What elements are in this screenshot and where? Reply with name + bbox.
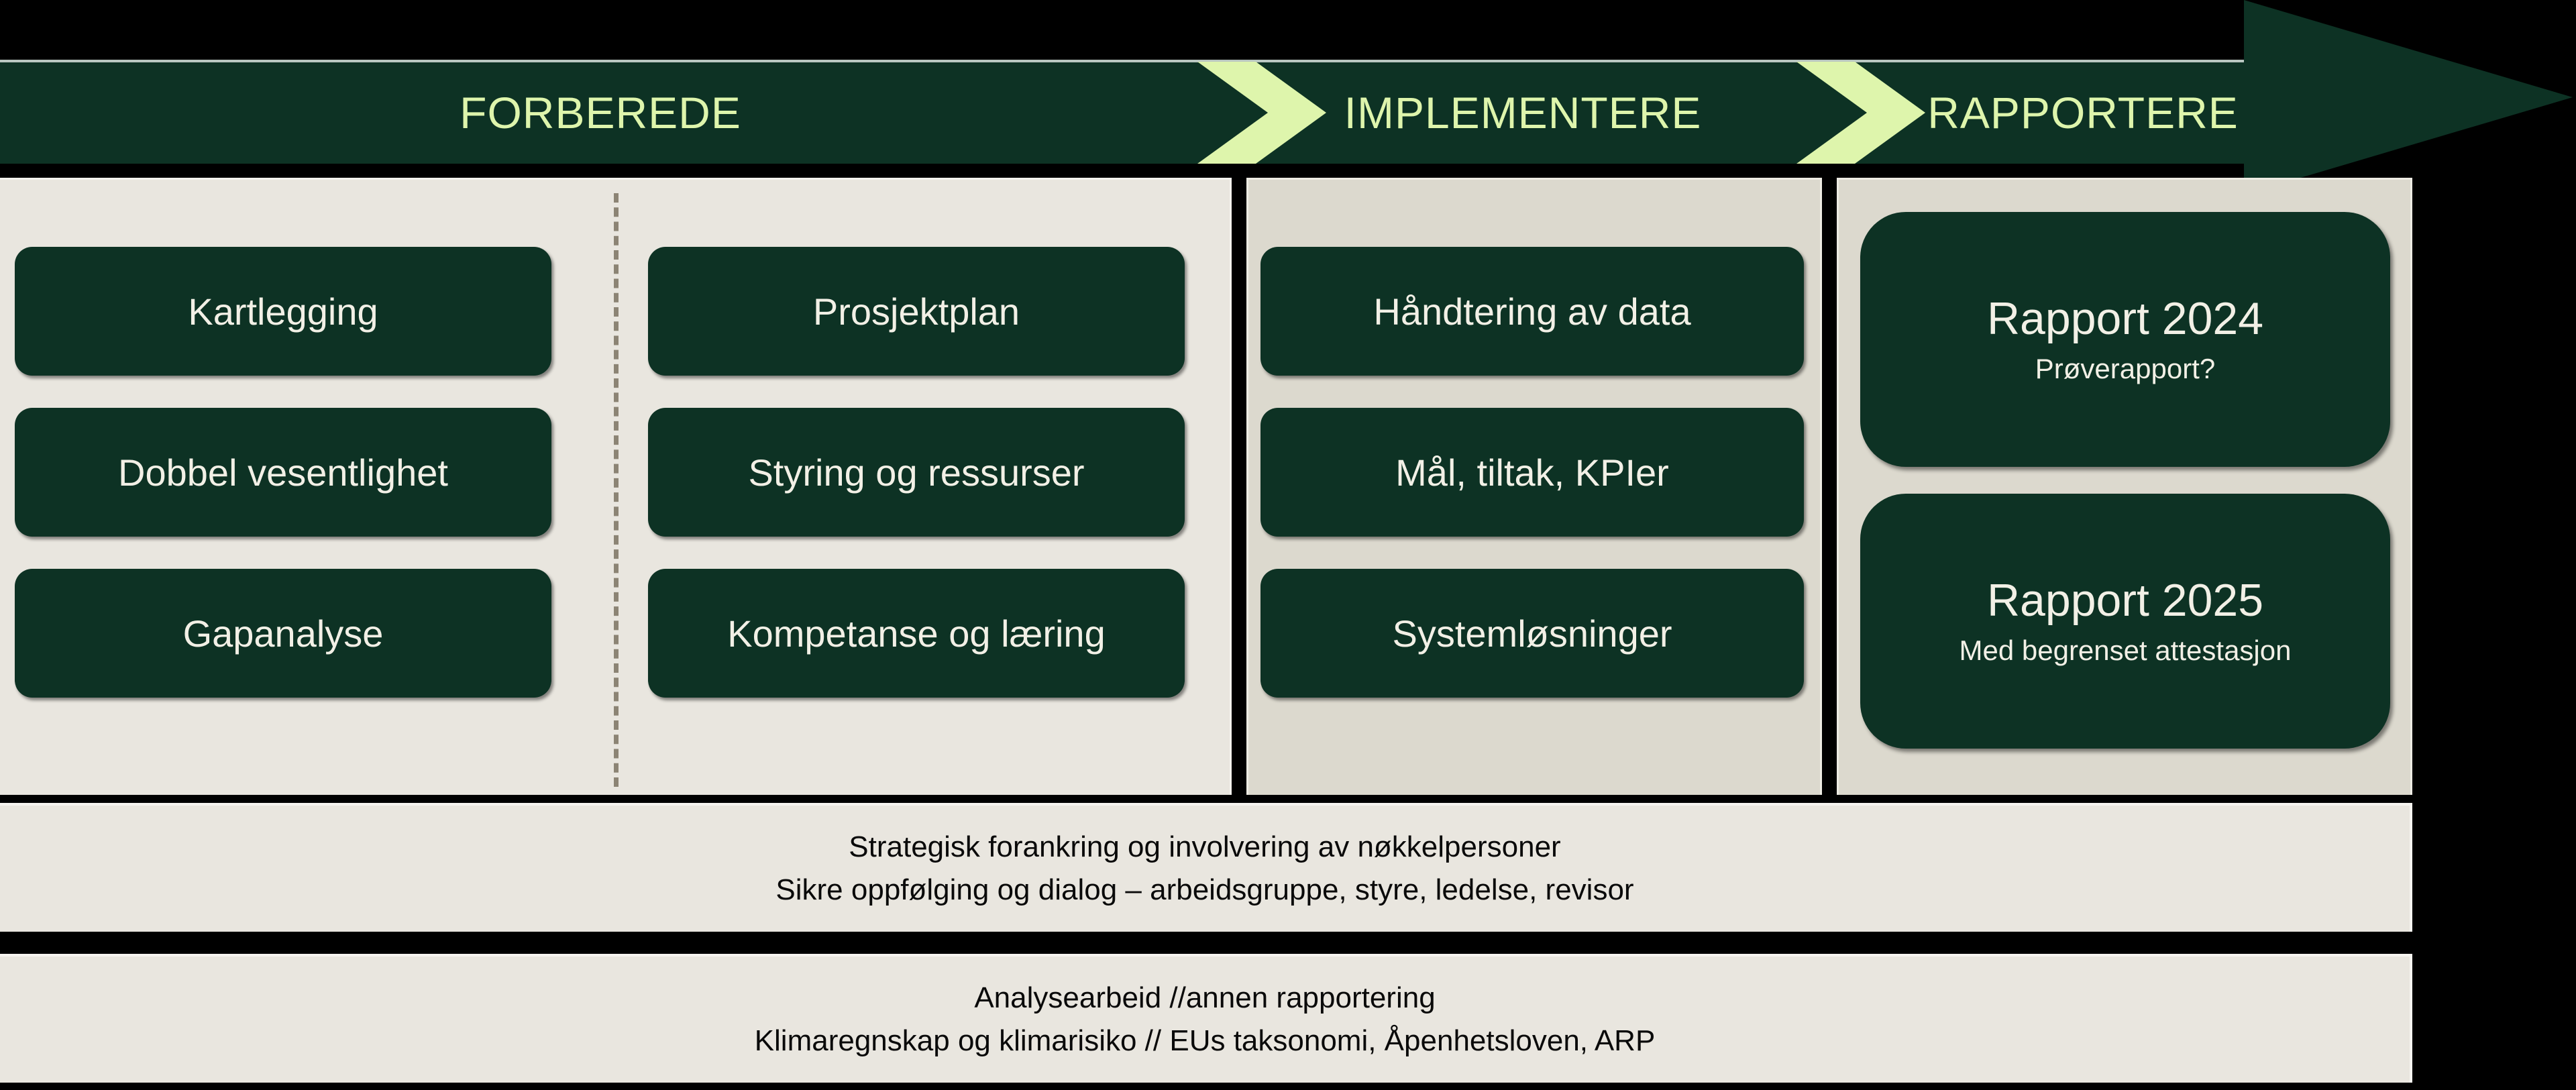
report-card-title: Rapport 2025 (1987, 578, 2263, 623)
bottom-band-forankring: Strategisk forankring og involvering av … (0, 803, 2412, 932)
phase-panel-rapportere: Rapport 2024 Prøverapport? Rapport 2025 … (1837, 178, 2412, 795)
step-card-systemlosninger[interactable]: Systemløsninger (1260, 569, 1804, 698)
process-arrow-header: FORBEREDE IMPLEMENTERE RAPPORTERE (0, 62, 2576, 164)
band-line: Analysearbeid //annen rapportering (974, 977, 1435, 1020)
step-card-label: Mål, tiltak, KPIer (1395, 451, 1669, 494)
forberede-dotted-divider (614, 193, 619, 787)
step-card-mal-tiltak-kpier[interactable]: Mål, tiltak, KPIer (1260, 408, 1804, 537)
step-column-forberede-b: Prosjektplan Styring og ressurser Kompet… (648, 180, 1185, 797)
bottom-band-analyse: Analysearbeid //annen rapportering Klima… (0, 954, 2412, 1083)
step-card-label: Prosjektplan (813, 290, 1020, 333)
step-card-kartlegging[interactable]: Kartlegging (15, 247, 551, 376)
step-card-kompetanse-og-laering[interactable]: Kompetanse og læring (648, 569, 1185, 698)
step-card-styring-og-ressurser[interactable]: Styring og ressurser (648, 408, 1185, 537)
report-card-2024[interactable]: Rapport 2024 Prøverapport? (1860, 212, 2390, 467)
report-card-subtitle: Prøverapport? (2035, 355, 2215, 383)
step-card-label: Kartlegging (188, 290, 378, 333)
stage-label-rapportere[interactable]: RAPPORTERE (1851, 62, 2314, 164)
step-card-dobbel-vesentlighet[interactable]: Dobbel vesentlighet (15, 408, 551, 537)
step-card-handtering-av-data[interactable]: Håndtering av data (1260, 247, 1804, 376)
phase-panel-forberede: Kartlegging Dobbel vesentlighet Gapanaly… (0, 178, 1232, 795)
phase-panel-implementere: Håndtering av data Mål, tiltak, KPIer Sy… (1246, 178, 1822, 795)
step-card-label: Kompetanse og læring (727, 612, 1105, 655)
report-card-subtitle: Med begrenset attestasjon (1960, 637, 2292, 665)
band-line: Strategisk forankring og involvering av … (849, 826, 1560, 869)
report-card-title: Rapport 2024 (1987, 296, 2263, 341)
band-line: Klimaregnskap og klimarisiko // EUs taks… (755, 1020, 1656, 1062)
step-card-label: Håndtering av data (1373, 290, 1690, 333)
report-card-2025[interactable]: Rapport 2025 Med begrenset attestasjon (1860, 494, 2390, 749)
band-line: Sikre oppfølging og dialog – arbeidsgrup… (775, 869, 1633, 912)
step-card-gapanalyse[interactable]: Gapanalyse (15, 569, 551, 698)
step-card-label: Systemløsninger (1392, 612, 1672, 655)
stage-label-implementere[interactable]: IMPLEMENTERE (1228, 62, 1818, 164)
step-column-implementere: Håndtering av data Mål, tiltak, KPIer Sy… (1260, 180, 1804, 797)
step-card-label: Dobbel vesentlighet (118, 451, 448, 494)
step-card-label: Gapanalyse (183, 612, 384, 655)
step-card-prosjektplan[interactable]: Prosjektplan (648, 247, 1185, 376)
stage-label-forberede[interactable]: FORBEREDE (0, 62, 1201, 164)
report-card-stack: Rapport 2024 Prøverapport? Rapport 2025 … (1860, 180, 2390, 797)
step-column-forberede-a: Kartlegging Dobbel vesentlighet Gapanaly… (15, 180, 551, 797)
step-card-label: Styring og ressurser (748, 451, 1084, 494)
